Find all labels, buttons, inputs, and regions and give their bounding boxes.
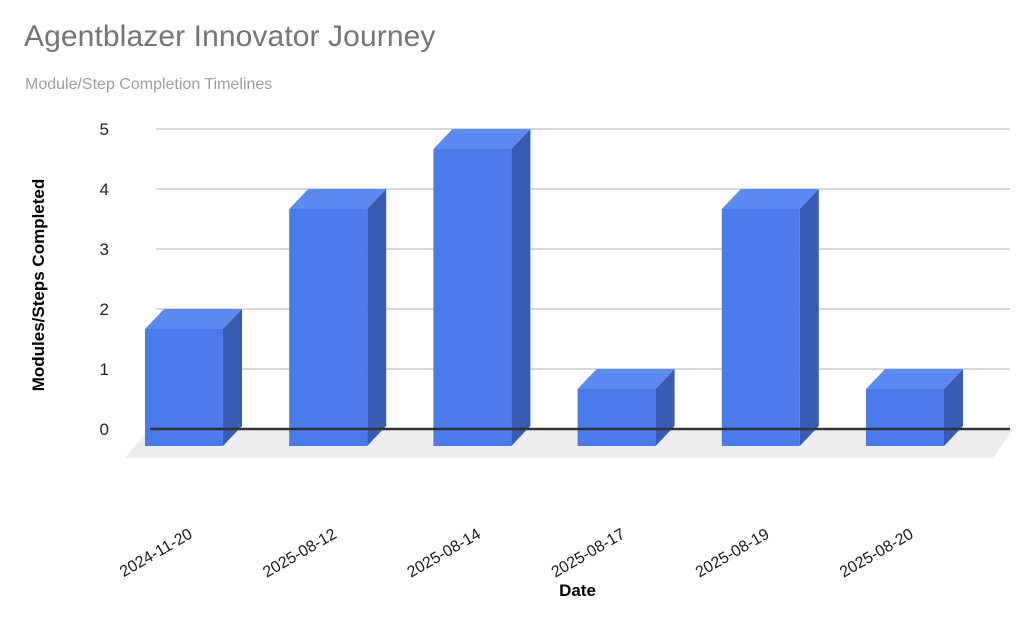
y-tick-label: 2 xyxy=(100,300,109,319)
y-tick-label: 3 xyxy=(100,240,109,259)
x-tick-label: 2025-08-17 xyxy=(549,526,628,582)
bar-column[interactable] xyxy=(289,189,386,446)
bar-column[interactable] xyxy=(145,309,242,446)
x-tick-label: 2025-08-12 xyxy=(260,526,339,582)
y-tick-label: 4 xyxy=(100,180,109,199)
x-tick-label: 2024-11-20 xyxy=(117,526,195,581)
x-tick-label: 2025-08-14 xyxy=(405,526,484,582)
bar-column[interactable] xyxy=(866,369,963,446)
chart-container: Agentblazer Innovator Journey Module/Ste… xyxy=(0,0,1024,632)
x-tick-label: 2025-08-20 xyxy=(837,526,916,582)
bar-front-face xyxy=(722,209,800,446)
bar-front-face xyxy=(578,389,656,446)
x-axis-title: Date xyxy=(559,581,596,600)
bar-front-face xyxy=(866,389,944,446)
bar-series xyxy=(145,129,963,446)
bar-front-face xyxy=(433,149,511,446)
bar-side-face xyxy=(511,129,530,446)
x-axis-tick-labels: 2024-11-202025-08-122025-08-142025-08-17… xyxy=(117,526,916,582)
y-tick-label: 5 xyxy=(100,120,109,139)
y-tick-label: 1 xyxy=(100,360,109,379)
bar-column[interactable] xyxy=(433,129,530,446)
y-axis-tick-labels: 012345 xyxy=(100,120,109,439)
bar-side-face xyxy=(800,189,819,446)
x-tick-label: 2025-08-19 xyxy=(693,526,772,582)
bar-front-face xyxy=(289,209,367,446)
y-tick-label: 0 xyxy=(100,420,109,439)
bar-column[interactable] xyxy=(578,369,675,446)
bar-column[interactable] xyxy=(722,189,819,446)
bar-side-face xyxy=(367,189,386,446)
y-axis-title: Modules/Steps Completed xyxy=(29,179,48,392)
plot-area: 012345 2024-11-202025-08-122025-08-14202… xyxy=(0,0,1024,632)
bar-side-face xyxy=(223,309,242,446)
